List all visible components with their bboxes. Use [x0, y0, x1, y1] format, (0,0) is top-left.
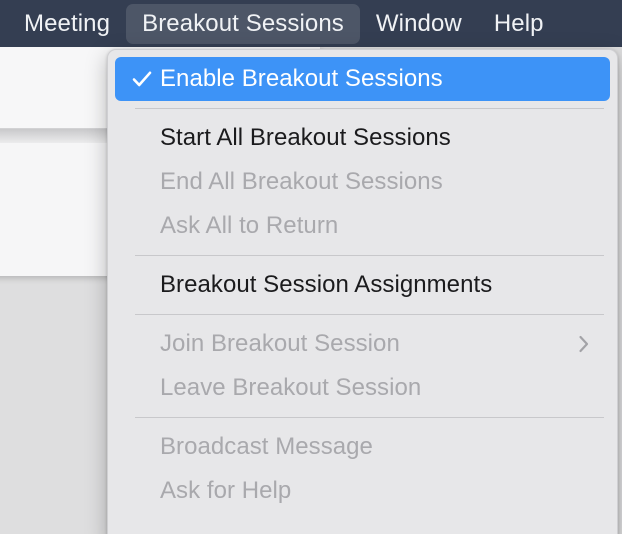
menu-item-label: Leave Breakout Session: [115, 374, 421, 402]
menu-item-end-all-breakout-sessions: End All Breakout Sessions: [115, 160, 610, 204]
menu-item-breakout-session-assignments[interactable]: Breakout Session Assignments: [115, 263, 610, 307]
menu-item-label: Start All Breakout Sessions: [115, 124, 451, 152]
menu-item-label: Ask for Help: [115, 477, 291, 505]
menu-separator: [135, 255, 604, 256]
menu-separator: [135, 108, 604, 109]
chevron-right-icon: [576, 333, 592, 355]
menu-item-label: End All Breakout Sessions: [115, 168, 443, 196]
screen-root: Meeting Breakout Sessions Window Help En…: [0, 0, 622, 534]
menubar-item-label: Breakout Sessions: [142, 10, 344, 38]
menubar-item-label: Meeting: [24, 10, 110, 38]
menu-bar: Meeting Breakout Sessions Window Help: [0, 0, 622, 47]
menu-item-leave-breakout-session: Leave Breakout Session: [115, 366, 610, 410]
menu-item-enable-breakout-sessions[interactable]: Enable Breakout Sessions: [115, 57, 610, 101]
menu-item-label: Broadcast Message: [115, 433, 373, 461]
menu-item-ask-for-help: Ask for Help: [115, 469, 610, 513]
menu-item-ask-all-to-return: Ask All to Return: [115, 204, 610, 248]
breakout-sessions-dropdown-menu: Enable Breakout Sessions Start All Break…: [107, 49, 618, 534]
menu-item-start-all-breakout-sessions[interactable]: Start All Breakout Sessions: [115, 116, 610, 160]
menubar-item-meeting[interactable]: Meeting: [8, 4, 126, 44]
menubar-item-label: Window: [376, 10, 462, 38]
checkmark-icon: [131, 68, 153, 90]
menu-item-label: Ask All to Return: [115, 212, 338, 240]
menubar-item-breakout-sessions[interactable]: Breakout Sessions: [126, 4, 360, 44]
menubar-item-help[interactable]: Help: [478, 4, 560, 44]
menu-item-label: Breakout Session Assignments: [115, 271, 492, 299]
menu-separator: [135, 417, 604, 418]
menu-item-label: Enable Breakout Sessions: [115, 65, 443, 93]
menubar-item-label: Help: [494, 10, 544, 38]
menu-separator: [135, 314, 604, 315]
menu-item-label: Join Breakout Session: [115, 330, 400, 358]
menu-item-join-breakout-session: Join Breakout Session: [115, 322, 610, 366]
menu-item-broadcast-message: Broadcast Message: [115, 425, 610, 469]
menubar-item-window[interactable]: Window: [360, 4, 478, 44]
